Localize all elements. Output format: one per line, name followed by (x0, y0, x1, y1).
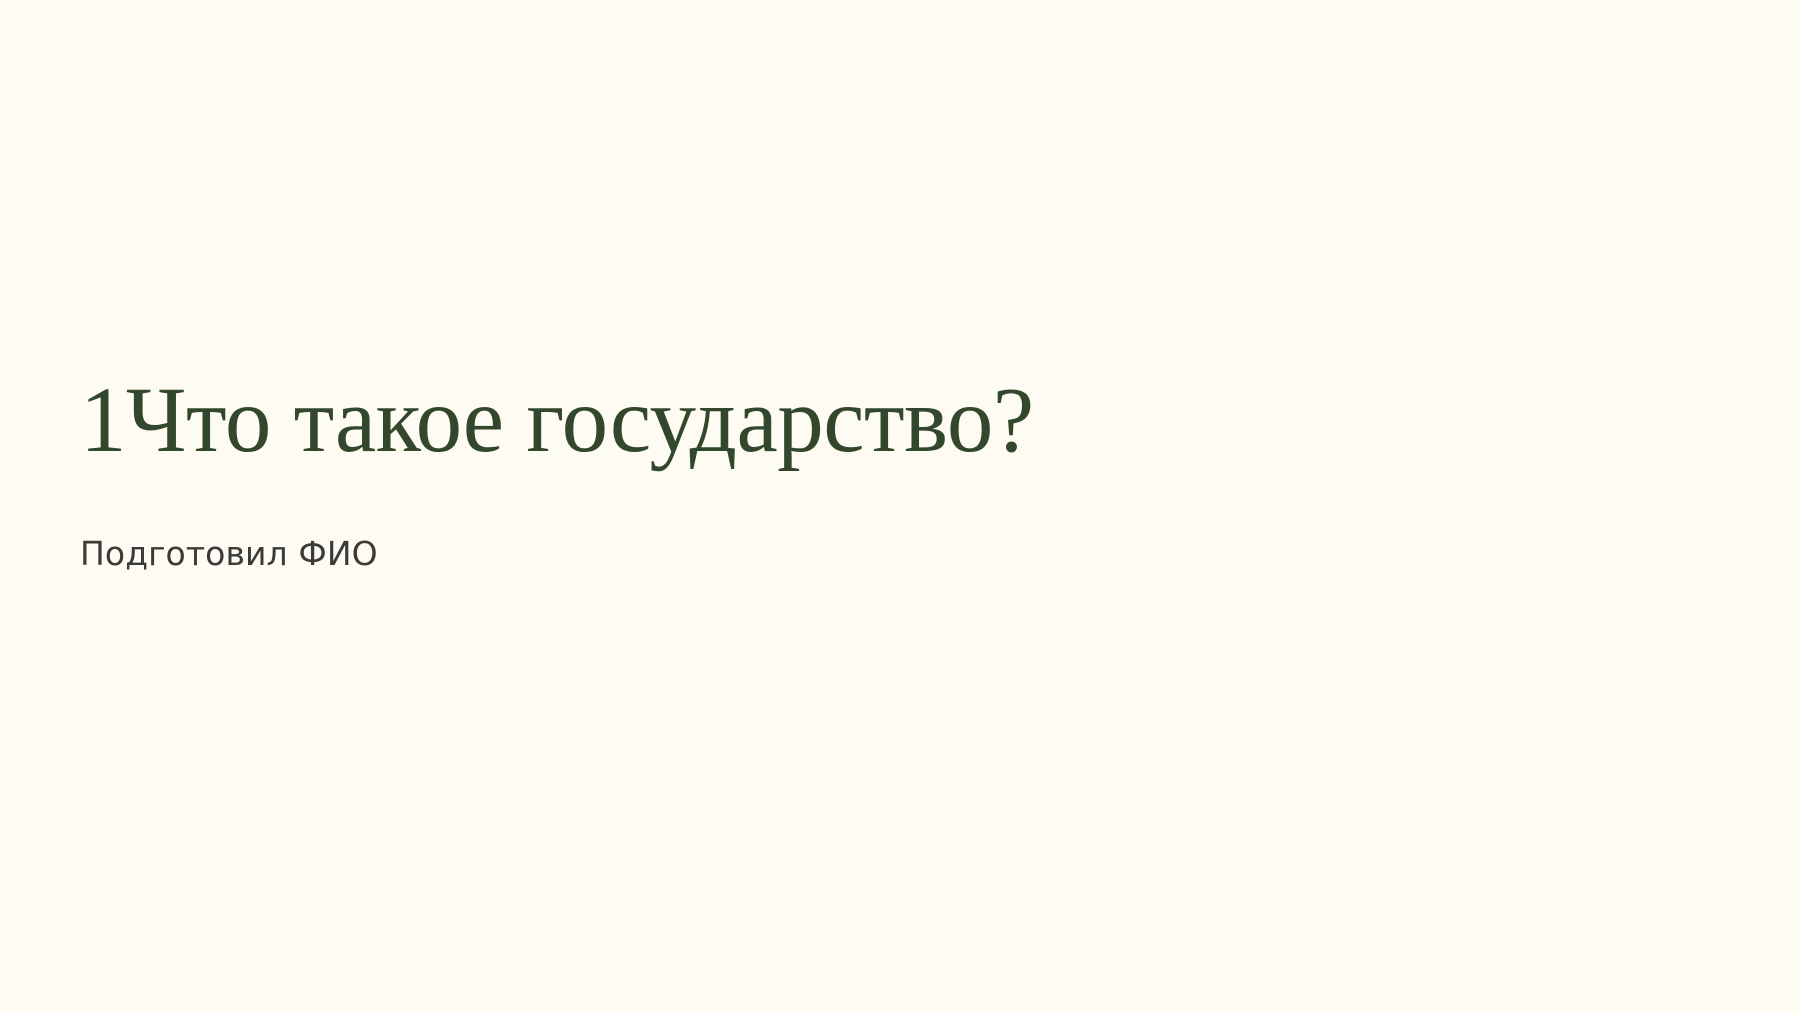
presentation-title-slide: 1Что такое государство? Подготовил ФИО (0, 0, 1800, 1013)
slide-subtitle: Подготовил ФИО (80, 471, 1480, 576)
slide-title: 1Что такое государство? (80, 372, 1480, 471)
title-block: 1Что такое государство? Подготовил ФИО (80, 372, 1480, 575)
